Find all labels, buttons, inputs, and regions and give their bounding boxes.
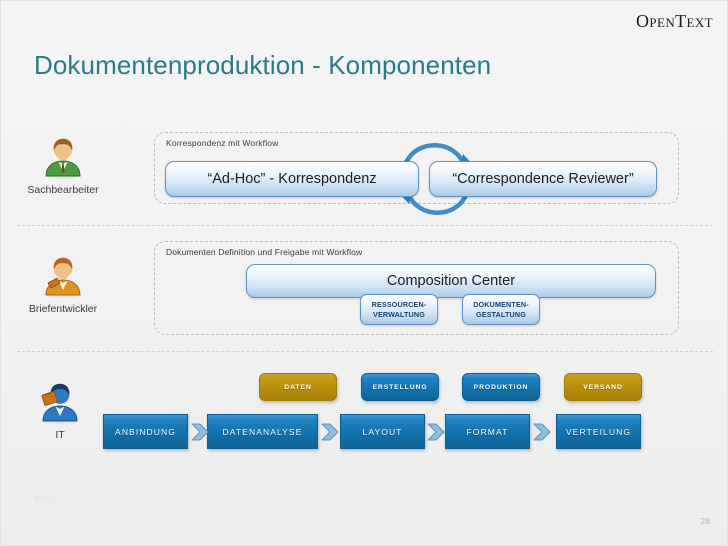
slide-canvas: OpenText Dokumentenproduktion - Komponen… bbox=[0, 0, 728, 546]
subbox-line1: DOKUMENTEN- bbox=[473, 300, 529, 310]
chevron-right-icon bbox=[533, 417, 552, 447]
subbox-line2: GESTALTUNG bbox=[476, 310, 526, 320]
chevron-right-icon bbox=[321, 417, 340, 447]
stage-label: LAYOUT bbox=[363, 427, 403, 437]
box-label: Composition Center bbox=[387, 273, 515, 289]
stage-label: ANBINDUNG bbox=[115, 427, 176, 437]
stage-box-format[interactable]: FORMAT bbox=[445, 414, 530, 449]
section-divider-2 bbox=[17, 351, 713, 352]
stage-box-anbindung[interactable]: ANBINDUNG bbox=[103, 414, 188, 449]
actor-sachbearbeiter: Sachbearbeiter bbox=[15, 134, 111, 196]
stage-box-datenanalyse[interactable]: DATENANALYSE bbox=[207, 414, 318, 449]
phase-box-versand[interactable]: VERSAND bbox=[564, 373, 642, 401]
box-composition-center[interactable]: Composition Center bbox=[246, 264, 656, 298]
actor-briefentwickler: Briefentwickler bbox=[15, 253, 111, 315]
user-green-icon bbox=[40, 134, 86, 180]
page-title: Dokumentenproduktion - Komponenten bbox=[34, 50, 491, 81]
actor-it: IT bbox=[12, 379, 108, 441]
watermark: blog bbox=[34, 493, 57, 505]
phase-label: DATEN bbox=[284, 384, 311, 391]
actor-label: Sachbearbeiter bbox=[15, 184, 111, 196]
group-label-dokumenten-definition: Dokumenten Definition und Freigabe mit W… bbox=[166, 247, 362, 257]
box-dokumentengestaltung[interactable]: DOKUMENTEN- GESTALTUNG bbox=[462, 294, 540, 325]
box-ad-hoc-korrespondenz[interactable]: “Ad-Hoc” - Korrespondenz bbox=[165, 161, 419, 197]
page-number: 28 bbox=[701, 516, 710, 526]
stage-box-layout[interactable]: LAYOUT bbox=[340, 414, 425, 449]
group-label-korrespondenz: Korrespondenz mit Workflow bbox=[166, 138, 278, 148]
stage-label: FORMAT bbox=[467, 427, 509, 437]
chevron-right-icon bbox=[427, 417, 446, 447]
box-ressourcenverwaltung[interactable]: RESSOURCEN- VERWALTUNG bbox=[360, 294, 438, 325]
phase-box-produktion[interactable]: PRODUKTION bbox=[462, 373, 540, 401]
phase-box-daten[interactable]: DATEN bbox=[259, 373, 337, 401]
box-label: “Ad-Hoc” - Korrespondenz bbox=[207, 171, 376, 187]
box-correspondence-reviewer[interactable]: “Correspondence Reviewer” bbox=[429, 161, 657, 197]
stage-label: DATENANALYSE bbox=[223, 427, 303, 437]
logo-text: OpenText bbox=[636, 11, 713, 31]
box-label: “Correspondence Reviewer” bbox=[452, 171, 633, 187]
section-divider-1 bbox=[17, 225, 713, 226]
stage-box-verteilung[interactable]: VERTEILUNG bbox=[556, 414, 641, 449]
subbox-line1: RESSOURCEN- bbox=[372, 300, 427, 310]
phase-label: VERSAND bbox=[583, 384, 623, 391]
subbox-line2: VERWALTUNG bbox=[373, 310, 425, 320]
phase-label: PRODUKTION bbox=[474, 384, 529, 391]
actor-label: IT bbox=[12, 429, 108, 441]
chevron-right-icon bbox=[191, 417, 210, 447]
opentext-logo: OpenText bbox=[636, 12, 713, 30]
phase-label: ERSTELLUNG bbox=[372, 384, 427, 391]
user-blue-briefcase-icon bbox=[37, 379, 83, 425]
phase-box-erstellung[interactable]: ERSTELLUNG bbox=[361, 373, 439, 401]
user-orange-icon bbox=[40, 253, 86, 299]
actor-label: Briefentwickler bbox=[15, 303, 111, 315]
stage-label: VERTEILUNG bbox=[566, 427, 631, 437]
